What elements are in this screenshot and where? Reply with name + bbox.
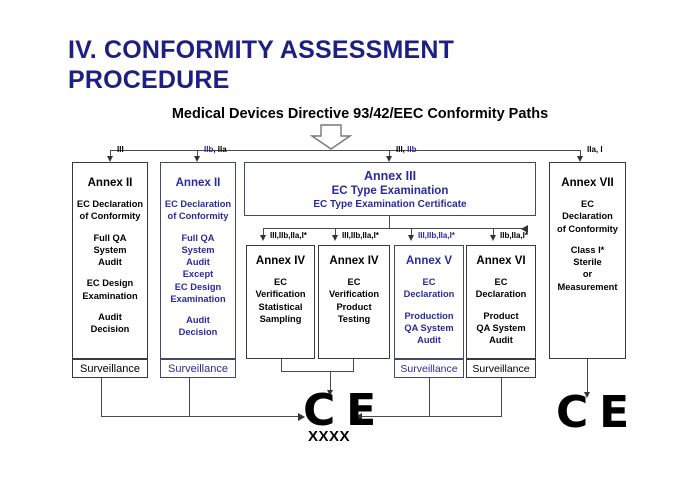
- annex-vii-box[interactable]: Annex VII EC Declaration of Conformity C…: [549, 162, 626, 359]
- ce-mark-right: C E: [556, 391, 630, 435]
- annex-ii-blue-body: EC Declaration of Conformity Full QA Sys…: [165, 198, 231, 339]
- slide-canvas: IV. CONFORMITY ASSESSMENT PROCEDURE Medi…: [0, 0, 690, 487]
- arrow-down-mid-3: [408, 235, 414, 241]
- annex-vii-head: Annex VII: [561, 177, 613, 189]
- annex-vi-box[interactable]: Annex VI EC Declaration Product QA Syste…: [466, 245, 536, 359]
- left-collector-h: [101, 416, 301, 417]
- annex-iv-sampling-head: Annex IV: [256, 255, 305, 267]
- ann2-blue-down: [189, 378, 190, 416]
- bus-line-top: [110, 150, 580, 151]
- annex-iv-testing-body: EC Verification Product Testing: [329, 276, 379, 325]
- mid-edge-label-2: III,IIb,IIa,I*: [342, 231, 379, 240]
- diagram-title: Medical Devices Directive 93/42/EEC Conf…: [150, 106, 570, 122]
- annex-iii-line1: EC Type Examination: [332, 185, 449, 197]
- ann2-black-down: [101, 378, 102, 416]
- mid-edge-label-4: IIb,IIa,I*: [500, 231, 528, 240]
- bus-stub-center: [331, 150, 332, 151]
- right-collector-h: [359, 416, 502, 417]
- surveillance-annex-ii-black[interactable]: Surveillance: [72, 359, 148, 378]
- ce-mark-left-number: XXXX: [308, 428, 350, 445]
- annex-vi-body: EC Declaration Product QA System Audit: [476, 276, 527, 346]
- surveillance-annex-ii-blue[interactable]: Surveillance: [160, 359, 236, 378]
- edge-label-1: III: [117, 145, 124, 154]
- annex-iii-box[interactable]: Annex III EC Type Examination EC Type Ex…: [244, 162, 536, 216]
- ce-mark-left: C E: [303, 389, 377, 433]
- ann5-down: [429, 378, 430, 416]
- arrow-down-mid-4: [490, 235, 496, 241]
- mid-edge-label-3: III,IIb,IIa,I*: [418, 231, 455, 240]
- annex-iv-testing-box[interactable]: Annex IV EC Verification Product Testing: [318, 245, 390, 359]
- iv-b-down: [353, 359, 354, 371]
- annex-v-box[interactable]: Annex V EC Declaration Production QA Sys…: [394, 245, 464, 359]
- annex-iv-testing-head: Annex IV: [329, 255, 378, 267]
- edge-label-4: IIa, I: [587, 145, 603, 154]
- annex-ii-blue-head: Annex II: [176, 177, 221, 189]
- annex-iii-head: Annex III: [364, 169, 416, 183]
- annex-iv-sampling-body: EC Verification Statistical Sampling: [255, 276, 305, 325]
- surveillance-annex-v[interactable]: Surveillance: [394, 359, 464, 378]
- annex-iv-sampling-box[interactable]: Annex IV EC Verification Statistical Sam…: [246, 245, 315, 359]
- arrow-down-mid-1: [260, 235, 266, 241]
- ann6-down: [501, 378, 502, 416]
- edge-label-2: IIb, IIa: [204, 145, 227, 154]
- annex-v-head: Annex V: [406, 255, 452, 267]
- annex-ii-blue-box[interactable]: Annex II EC Declaration of Conformity Fu…: [160, 162, 236, 359]
- annex-v-body: EC Declaration Production QA System Audi…: [404, 276, 455, 346]
- annex-vii-body: EC Declaration of Conformity Class I* St…: [557, 198, 618, 293]
- surveillance-annex-vi[interactable]: Surveillance: [466, 359, 536, 378]
- iv-join-h: [281, 371, 354, 372]
- mid-edge-label-1: III,IIb,IIa,I*: [270, 231, 307, 240]
- annex-iii-stem: [389, 216, 390, 228]
- annex-ii-black-head: Annex II: [88, 177, 133, 189]
- annex-ii-black-body: EC Declaration of Conformity Full QA Sys…: [77, 198, 143, 335]
- annex-iii-line2: EC Type Examination Certificate: [313, 199, 466, 210]
- arrow-down-mid-2: [332, 235, 338, 241]
- edge-label-3: III, IIb: [396, 145, 416, 154]
- annex-vi-head: Annex VI: [476, 255, 525, 267]
- annex-ii-black-box[interactable]: Annex II EC Declaration of Conformity Fu…: [72, 162, 148, 359]
- bus-line-mid: [263, 228, 527, 229]
- page-title: IV. CONFORMITY ASSESSMENT PROCEDURE: [68, 36, 588, 95]
- iv-a-down: [281, 359, 282, 371]
